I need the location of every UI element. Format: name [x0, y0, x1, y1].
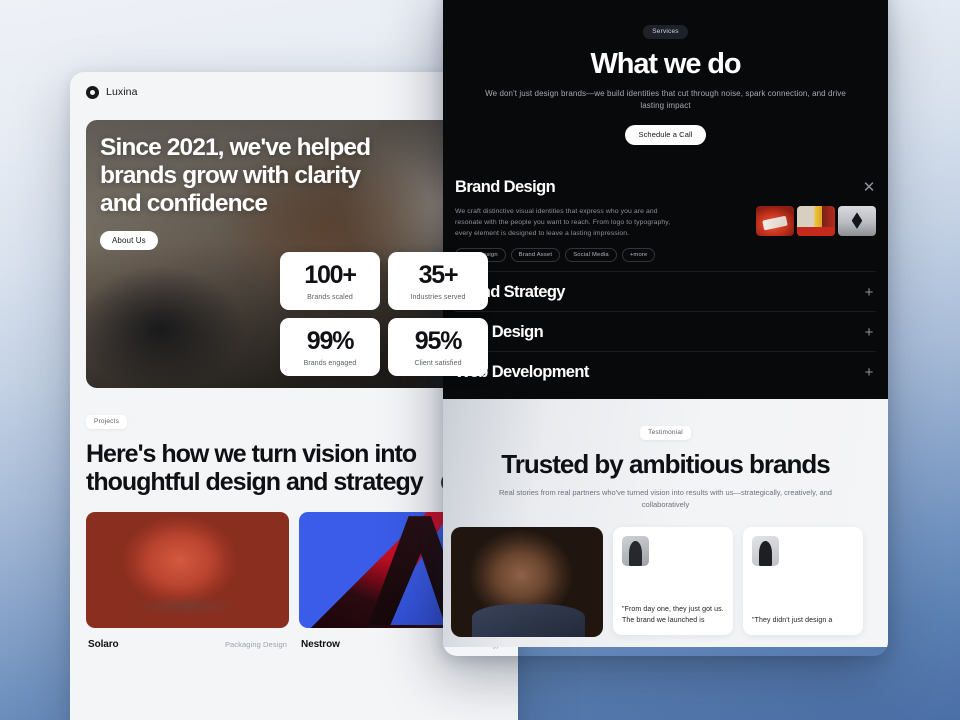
avatar [752, 536, 779, 566]
brand-logo[interactable]: Luxina [86, 86, 138, 99]
accordion-item-brand-design[interactable]: Brand Design ✕ We craft distinctive visu… [455, 167, 876, 272]
accordion-thumbnails [756, 206, 876, 236]
plus-icon[interactable]: + [862, 325, 876, 340]
plus-icon[interactable]: + [862, 285, 876, 300]
testimonial-header: Testimonial Trusted by ambitious brands … [443, 421, 888, 511]
services-header: Services What we do We don't just design… [443, 0, 888, 145]
testimonial-section: Testimonial Trusted by ambitious brands … [443, 399, 888, 647]
testimonial-card[interactable]: "From day one, they just got us. The bra… [613, 527, 733, 635]
stat-value: 35+ [394, 263, 482, 288]
projects-grid: Solaro Packaging Design Nestrow Brand St… [86, 512, 502, 650]
testimonial-quote: "They didn't just design a [752, 615, 854, 626]
tag-chip-more[interactable]: +more [622, 248, 656, 262]
stat-label: Brands scaled [286, 294, 374, 301]
accordion-item-brand-strategy[interactable]: Brand Strategy + [455, 271, 876, 311]
testimonial-quote: "From day one, they just got us. The bra… [622, 604, 724, 626]
about-us-button[interactable]: About Us [100, 231, 158, 250]
accordion-panel: We craft distinctive visual identities t… [455, 206, 876, 263]
avatar [622, 536, 649, 566]
stat-label: Client satisfied [394, 360, 482, 367]
hero-content: Since 2021, we've helped brands grow wit… [100, 134, 488, 250]
services-badge: Services [643, 25, 688, 39]
services-title: What we do [483, 49, 848, 79]
project-name: Solaro [88, 639, 119, 650]
stat-label: Brands engaged [286, 360, 374, 367]
testimonial-carousel[interactable]: "From day one, they just got us. The bra… [443, 511, 888, 637]
hero-title: Since 2021, we've helped brands grow wit… [100, 134, 400, 218]
thumbnail-image [797, 206, 835, 236]
project-tag: Packaging Design [225, 640, 287, 649]
accordion-item-web-development[interactable]: Web Development + [455, 351, 876, 391]
services-subtitle: We don't just design brands—we build ide… [483, 88, 848, 113]
stat-card: 95% Client satisfied [388, 318, 488, 376]
brand-name: Luxina [106, 86, 138, 98]
stat-label: Industries served [394, 294, 482, 301]
accordion-header[interactable]: Web Design + [455, 323, 876, 342]
stat-card: 35+ Industries served [388, 252, 488, 310]
screenshot-stage: Luxina Menu Since 2021, we've helped bra… [0, 0, 960, 720]
project-thumbnail [86, 512, 289, 628]
accordion-item-web-design[interactable]: Web Design + [455, 311, 876, 351]
accordion-tags: Logo Design Brand Asset Social Media +mo… [455, 248, 683, 262]
testimonial-card[interactable]: "They didn't just design a [743, 527, 863, 635]
stat-value: 99% [286, 329, 374, 354]
stat-card: 100+ Brands scaled [280, 252, 380, 310]
services-accordion: Brand Design ✕ We craft distinctive visu… [443, 167, 888, 392]
testimonial-feature-photo [451, 527, 603, 637]
testimonial-title: Trusted by ambitious brands [483, 450, 848, 479]
projects-header: Here's how we turn vision into thoughtfu… [86, 440, 502, 496]
hero-section: Since 2021, we've helped brands grow wit… [86, 120, 502, 388]
stat-value: 95% [394, 329, 482, 354]
accordion-text-block: We craft distinctive visual identities t… [455, 206, 683, 263]
project-name: Nestrow [301, 639, 340, 650]
projects-title: Here's how we turn vision into thoughtfu… [86, 440, 431, 496]
tag-chip[interactable]: Social Media [565, 248, 617, 262]
testimonial-badge: Testimonial [640, 426, 691, 440]
schedule-a-call-button[interactable]: Schedule a Call [625, 125, 705, 145]
close-icon[interactable]: ✕ [862, 180, 876, 195]
accordion-header[interactable]: Brand Design ✕ [455, 178, 876, 197]
accordion-header[interactable]: Brand Strategy + [455, 283, 876, 302]
thumbnail-image [756, 206, 794, 236]
testimonial-subtitle: Real stories from real partners who've t… [483, 487, 848, 511]
tag-chip[interactable]: Brand Asset [511, 248, 560, 262]
plus-icon[interactable]: + [862, 365, 876, 380]
accordion-description: We craft distinctive visual identities t… [455, 206, 683, 240]
thumbnail-image [838, 206, 876, 236]
website-preview-dark: Services What we do We don't just design… [443, 0, 888, 656]
services-section: Services What we do We don't just design… [443, 0, 888, 399]
stat-value: 100+ [286, 263, 374, 288]
projects-badge: Projects [86, 415, 127, 429]
project-card[interactable]: Solaro Packaging Design [86, 512, 289, 650]
stats-grid: 100+ Brands scaled 35+ Industries served… [280, 252, 488, 376]
accordion-header[interactable]: Web Development + [455, 363, 876, 382]
project-meta: Solaro Packaging Design [86, 628, 289, 650]
stat-card: 99% Brands engaged [280, 318, 380, 376]
luxina-logo-icon [86, 86, 99, 99]
